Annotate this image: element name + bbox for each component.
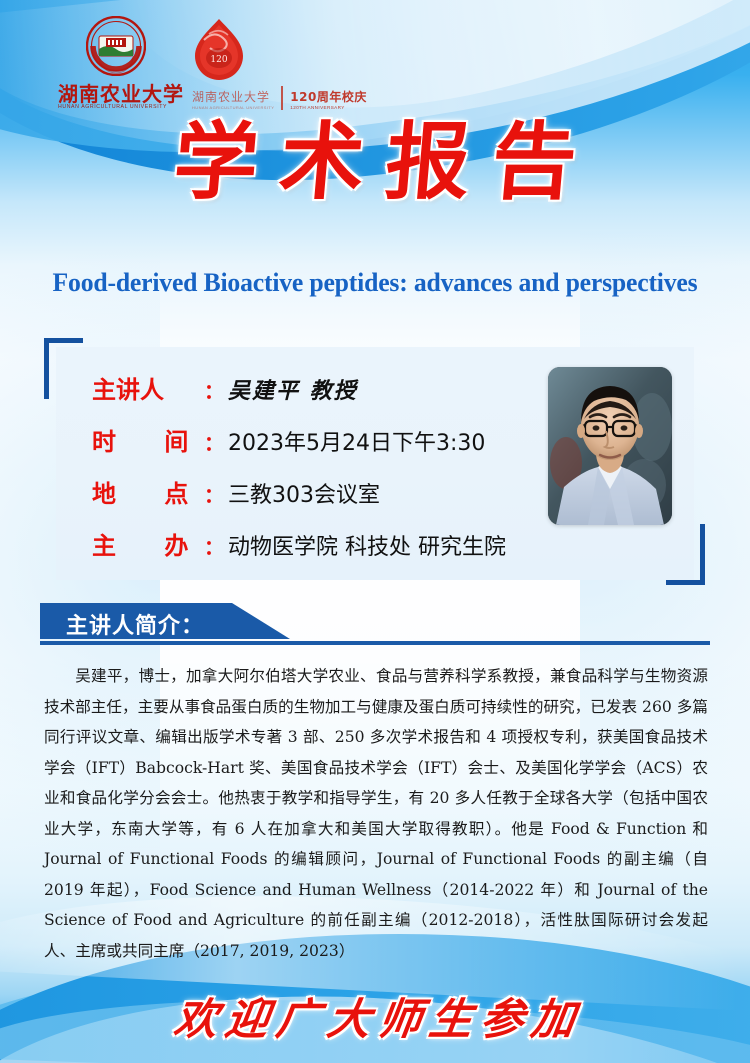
wordmark-university-en: HUNAN AGRICULTURAL UNIVERSITY: [58, 104, 167, 110]
wordmark-university: 湖南农业大学 HUNAN AGRICULTURAL UNIVERSITY: [58, 84, 184, 110]
university-seal-icon: [86, 16, 146, 76]
info-row-label: 主讲人: [92, 370, 210, 405]
info-row-value: 吴建平 教授: [228, 373, 358, 405]
bracket-bottom-right: [666, 524, 705, 585]
svg-text:120: 120: [210, 55, 227, 65]
logo-divider: [281, 86, 283, 110]
poster-canvas: 120 湖南农业大学 HUNAN AGRICULTURAL UNIVERSITY…: [0, 0, 750, 1063]
wordmark-secondary-cn: 湖南农业大学: [192, 88, 270, 105]
page-title: 学术报告: [0, 120, 750, 204]
lecture-subtitle: Food-derived Bioactive peptides: advance…: [11, 267, 739, 298]
wordmark-secondary-en: HUNAN AGRICULTURAL UNIVERSITY: [192, 105, 274, 110]
info-row-colon: ：: [204, 479, 224, 508]
info-row-value: 三教303会议室: [228, 477, 380, 509]
logo-wordmark: 湖南农业大学 HUNAN AGRICULTURAL UNIVERSITY 湖南农…: [58, 78, 388, 110]
info-row-label: 时 间: [92, 422, 210, 457]
anniversary-label-en: 120TH ANNIVERSARY: [290, 105, 344, 110]
info-row-value: 2023年5月24日下午3:30: [228, 425, 485, 457]
wordmark-anniversary: 120周年校庆 120TH ANNIVERSARY: [290, 88, 367, 110]
anniversary-label-cn: 120周年校庆: [290, 88, 367, 105]
bio-section-title: 主讲人简介：: [66, 608, 204, 640]
bio-section-header: 主讲人简介：: [40, 603, 710, 647]
info-row-label: 地 点: [92, 474, 210, 509]
info-row-label: 主 办: [92, 526, 210, 561]
info-row-colon: ：: [204, 427, 224, 456]
info-row-colon: ：: [204, 375, 224, 404]
info-row: 时 间：2023年5月24日下午3:30: [92, 422, 552, 452]
speaker-portrait: [548, 367, 672, 525]
footer-invitation: 欢迎广大师生参加: [0, 985, 750, 1047]
info-list: 主讲人：吴建平 教授时 间：2023年5月24日下午3:30地 点：三教303会…: [92, 370, 552, 578]
info-row-colon: ：: [204, 531, 224, 560]
wordmark-secondary: 湖南农业大学 HUNAN AGRICULTURAL UNIVERSITY: [192, 88, 274, 110]
bio-section-rule: [40, 641, 710, 645]
speaker-biography: 吴建平，博士，加拿大阿尔伯塔大学农业、食品与营养科学系教授，兼食品科学与生物资源…: [44, 661, 708, 966]
wordmark-university-cn: 湖南农业大学: [58, 84, 184, 104]
info-row: 地 点：三教303会议室: [92, 474, 552, 504]
speaker-photo-icon: [548, 367, 672, 525]
info-row-value: 动物医学院 科技处 研究生院: [228, 529, 506, 561]
info-row: 主讲人：吴建平 教授: [92, 370, 552, 400]
info-row: 主 办：动物医学院 科技处 研究生院: [92, 526, 552, 556]
logo-row: 120 湖南农业大学 HUNAN AGRICULTURAL UNIVERSITY…: [86, 16, 386, 108]
bracket-top-left: [44, 338, 83, 399]
anniversary-seal-icon: 120: [190, 18, 248, 80]
